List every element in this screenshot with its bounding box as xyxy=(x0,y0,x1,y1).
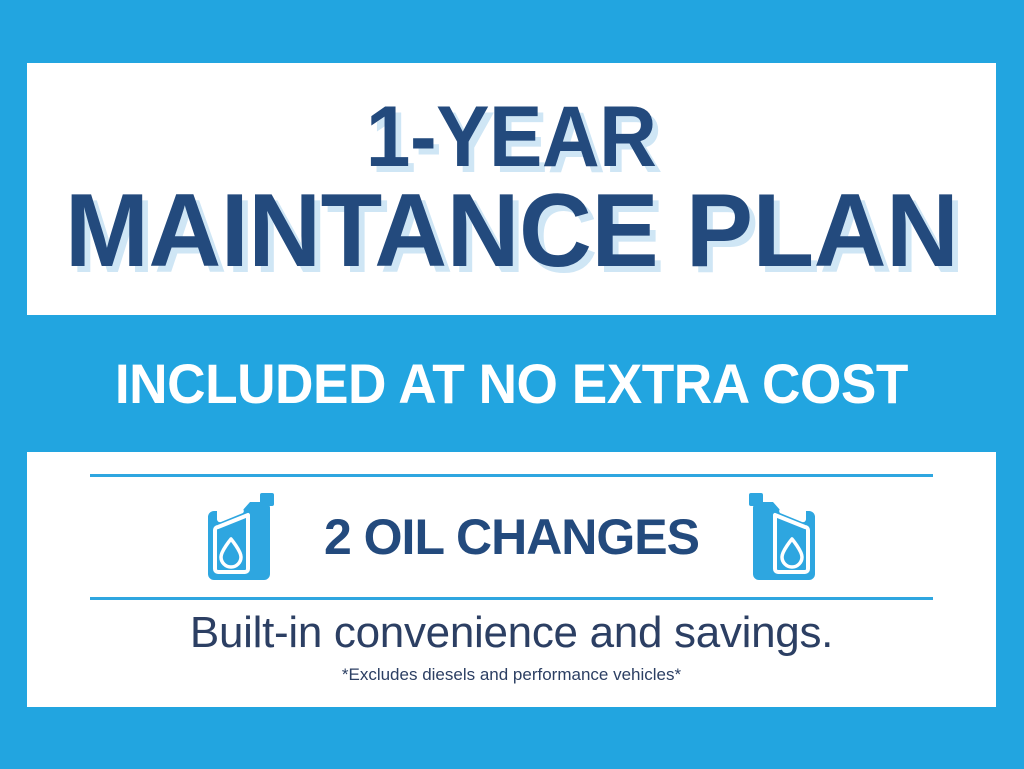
oil-change-label: 2 OIL CHANGES xyxy=(324,508,699,566)
fineprint-disclaimer: *Excludes diesels and performance vehicl… xyxy=(27,665,996,685)
headline-line-2: MAINTANCE PLAN xyxy=(65,182,959,282)
oil-change-row: 2 OIL CHANGES xyxy=(90,477,933,597)
headline-line-1: 1-YEAR xyxy=(366,96,657,179)
detail-card: 2 OIL CHANGES Built-in convenience and s… xyxy=(27,452,996,707)
subtitle-band: INCLUDED AT NO EXTRA COST xyxy=(27,315,996,452)
oil-jug-icon xyxy=(204,491,280,583)
subtitle-text: INCLUDED AT NO EXTRA COST xyxy=(115,351,908,416)
promo-poster: 1-YEAR MAINTANCE PLAN INCLUDED AT NO EXT… xyxy=(0,0,1024,769)
oil-jug-icon xyxy=(743,491,819,583)
divider-bottom xyxy=(90,597,933,600)
headline-card: 1-YEAR MAINTANCE PLAN xyxy=(27,63,996,315)
tagline-text: Built-in convenience and savings. xyxy=(27,608,996,658)
